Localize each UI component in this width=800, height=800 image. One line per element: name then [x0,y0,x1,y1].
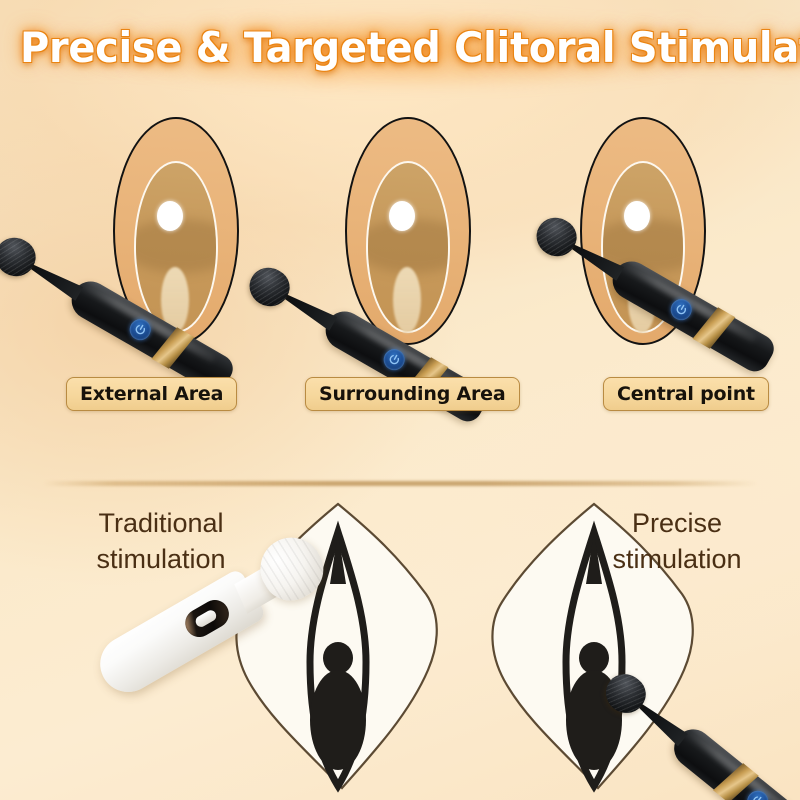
center-point-dot [389,201,415,231]
opening-oval [310,670,366,770]
caption-precise-stimulation: Precise stimulation [562,505,792,577]
center-point-dot [624,201,650,231]
page-title: Precise & Targeted Clitoral Stimulation [20,23,780,73]
label-central-point[interactable]: Central point [603,377,769,411]
caption-line-1: Traditional [46,505,276,541]
section-divider [42,481,758,486]
caption-line-1: Precise [562,505,792,541]
title-band: Precise & Targeted Clitoral Stimulation [0,0,800,100]
caption-line-2: stimulation [562,541,792,577]
center-point-dot [157,201,183,231]
product-marketing-poster: Precise & Targeted Clitoral Stimulation … [0,0,800,800]
target-diagram-surrounding-area [345,117,471,345]
clitoris-dot [579,642,609,674]
caption-line-2: stimulation [46,541,276,577]
wand-brush-head [530,211,584,264]
clitoris-dot [323,642,353,674]
lower-oval [393,267,421,333]
label-surrounding-area[interactable]: Surrounding Area [305,377,520,411]
wand-brush-head [0,231,42,284]
label-external-area[interactable]: External Area [66,377,237,411]
wand-brush-head [243,261,297,314]
caption-traditional-stimulation: Traditional stimulation [46,505,276,577]
